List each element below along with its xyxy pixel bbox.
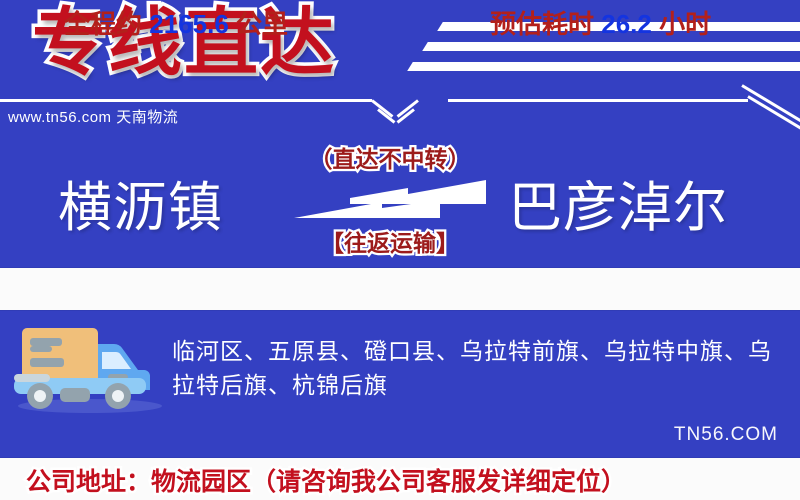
distance-label: 全程约 (64, 9, 142, 39)
duration-value: 26.2 (601, 9, 652, 39)
duration-info: 预估耗时 26.2 小时 (490, 4, 711, 41)
divider-tail-stripe (747, 95, 800, 130)
decorative-stripe (407, 62, 800, 71)
distance-info: 全程约 2165.6 公里 (64, 4, 288, 41)
watermark-label: TN56.COM (674, 424, 778, 446)
chevron-down-icon (378, 108, 414, 130)
divider-rule-left (0, 99, 372, 102)
divider-tail-stripe (741, 84, 800, 123)
coverage-districts: 临河区、五原县、磴口县、乌拉特前旗、乌拉特中旗、乌拉特后旗、杭锦后旗 (172, 334, 784, 402)
double-arrow-icon (290, 178, 490, 224)
origin-city: 横沥镇 (58, 163, 223, 242)
round-trip-tag: 【往返运输】 (290, 224, 490, 258)
destination-city: 巴彦淖尔 (508, 163, 728, 242)
site-url-label: www.tn56.com 天南物流 (8, 106, 178, 127)
delivery-truck-icon (8, 316, 168, 421)
logistics-banner: 专线直达 www.tn56.com 天南物流 横沥镇 巴彦淖尔 （直达不中转） … (0, 0, 800, 500)
company-address: 公司地址：物流园区（请咨询我公司客服发详细定位） (26, 462, 626, 498)
distance-unit: 公里 (236, 9, 288, 39)
direct-service-tag: （直达不中转） (290, 140, 490, 174)
route-middle-group: （直达不中转） 【往返运输】 (290, 140, 490, 260)
distance-value: 2165.6 (149, 9, 229, 39)
decorative-stripe (422, 42, 800, 51)
duration-unit: 小时 (659, 9, 711, 39)
duration-label: 预估耗时 (490, 9, 594, 39)
divider-rule-right (448, 99, 748, 102)
info-band (0, 268, 800, 310)
